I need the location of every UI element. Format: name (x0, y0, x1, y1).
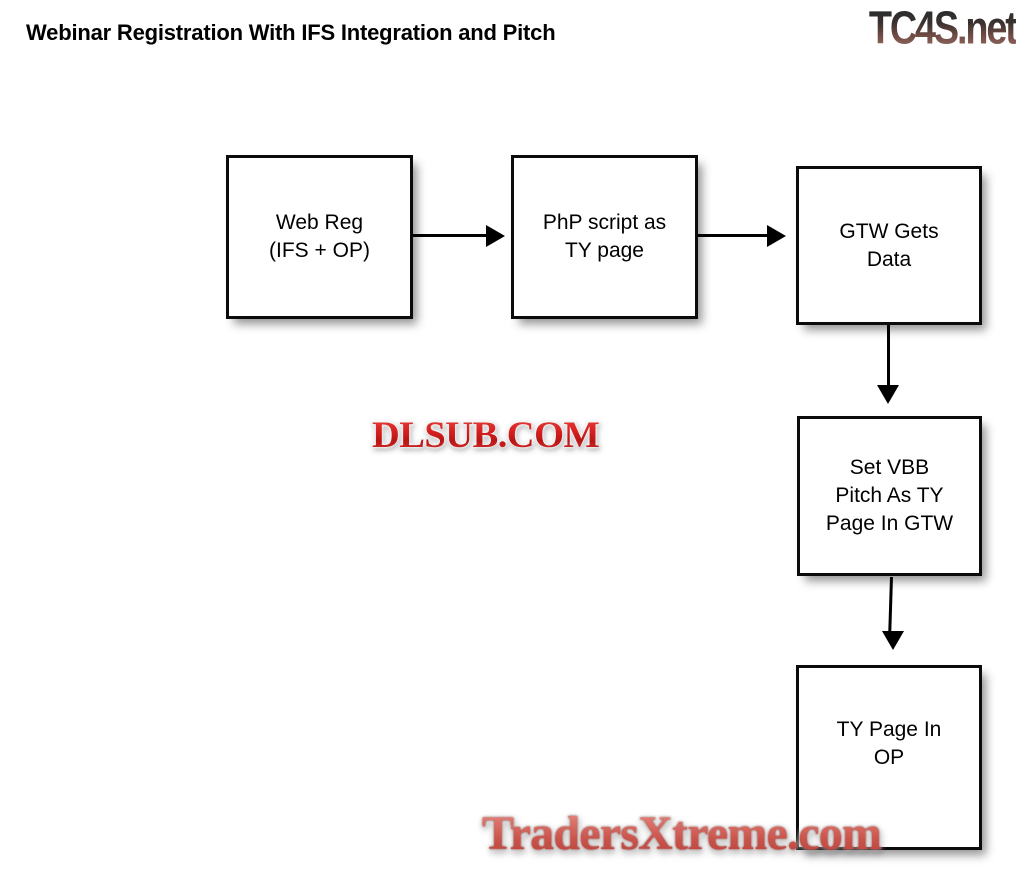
flow-node-set-vbb-pitch[interactable]: Set VBB Pitch As TY Page In GTW (797, 416, 982, 576)
flow-node-php-script[interactable]: PhP script as TY page (511, 155, 698, 319)
tc4s-brand-logo: TC4S.net (869, 2, 1016, 55)
diagram-canvas: Webinar Registration With IFS Integratio… (0, 0, 1024, 877)
flow-node-label: PhP script as TY page (543, 209, 666, 265)
connector-set-vbb-to-ty-page-op (888, 577, 893, 634)
connector-php-script-to-gtw-gets (698, 234, 769, 237)
flow-node-label: GTW Gets Data (839, 218, 938, 274)
flow-node-gtw-gets-data[interactable]: GTW Gets Data (796, 166, 982, 325)
flow-node-web-reg[interactable]: Web Reg (IFS + OP) (226, 155, 413, 319)
connector-gtw-gets-to-set-vbb (887, 325, 890, 387)
flow-node-label: Set VBB Pitch As TY Page In GTW (826, 454, 953, 538)
arrow-right-icon (767, 225, 786, 247)
flow-node-label: Web Reg (IFS + OP) (269, 209, 370, 265)
page-title: Webinar Registration With IFS Integratio… (26, 20, 555, 46)
connector-web-reg-to-php-script (413, 234, 488, 237)
arrow-down-icon (877, 385, 899, 404)
flow-node-label: TY Page In OP (837, 716, 942, 772)
watermark-tradersxtreme: TradersXtreme.com (482, 806, 881, 861)
arrow-right-icon (486, 225, 505, 247)
watermark-dlsub: DLSUB.COM (372, 414, 599, 457)
arrow-down-icon (882, 631, 904, 650)
